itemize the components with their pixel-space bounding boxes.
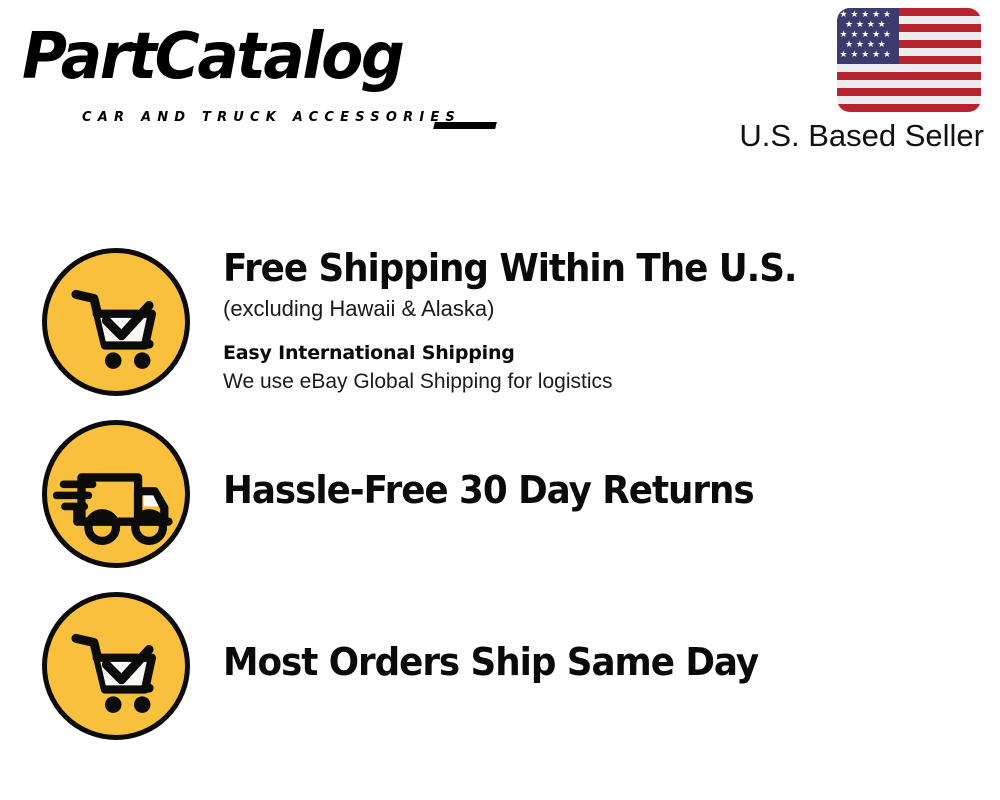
feature-title: Most Orders Ship Same Day xyxy=(223,639,937,685)
feature-title: Hassle-Free 30 Day Returns xyxy=(223,467,937,513)
feature-strong-line: Easy International Shipping xyxy=(223,340,983,366)
feature-row: Free Shipping Within The U.S. (excluding… xyxy=(0,245,1000,410)
feature-list: Free Shipping Within The U.S. (excluding… xyxy=(0,0,1000,800)
feature-subtitle: (excluding Hawaii & Alaska) xyxy=(223,294,983,324)
feature-text-block: Hassle-Free 30 Day Returns xyxy=(223,467,983,513)
feature-row: Hassle-Free 30 Day Returns xyxy=(0,417,1000,572)
feature-text-block: Free Shipping Within The U.S. (excluding… xyxy=(223,245,983,396)
cart-check-icon xyxy=(42,592,190,740)
feature-title: Free Shipping Within The U.S. xyxy=(223,245,937,291)
feature-row: Most Orders Ship Same Day xyxy=(0,589,1000,744)
feature-text-block: Most Orders Ship Same Day xyxy=(223,639,983,685)
delivery-truck-icon xyxy=(42,420,190,568)
feature-note-line: We use eBay Global Shipping for logistic… xyxy=(223,367,983,396)
cart-check-icon xyxy=(42,248,190,396)
